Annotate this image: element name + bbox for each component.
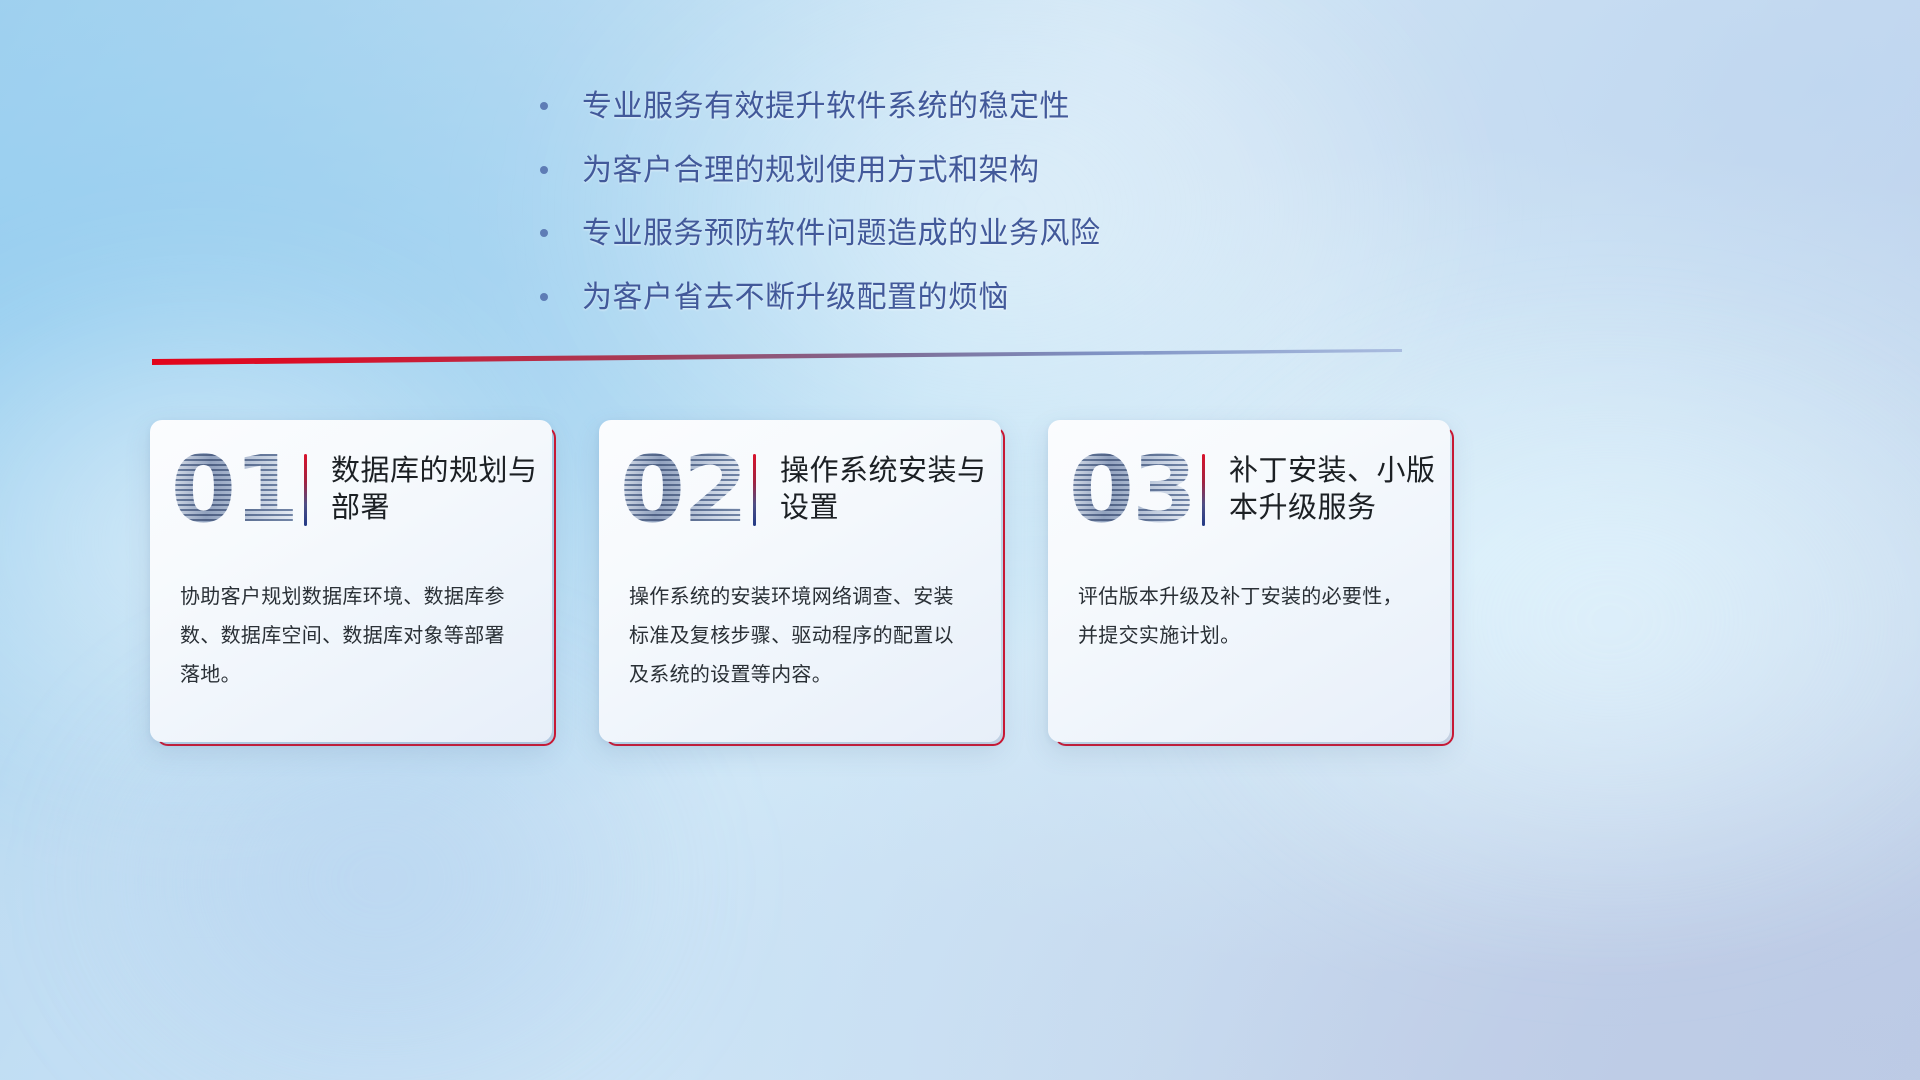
service-card[interactable]: 01 数据库的规划与部署 协助客户规划数据库环境、数据库参数、数据库空间、数据库… [150, 420, 552, 742]
section-divider [152, 342, 1402, 368]
card-divider-rule [304, 454, 307, 526]
card-surface: 03 补丁安装、小版本升级服务 评估版本升级及补丁安装的必要性，并提交实施计划。 [1048, 420, 1450, 742]
card-description: 操作系统的安装环境网络调查、安装标准及复核步骤、驱动程序的配置以及系统的设置等内… [599, 560, 1001, 695]
bullet-label: 为客户合理的规划使用方式和架构 [582, 152, 1380, 190]
list-item: 专业服务有效提升软件系统的稳定性 [540, 88, 1380, 126]
card-number-striped: 02 [620, 444, 751, 536]
card-divider-rule [1202, 454, 1205, 526]
bullet-dot-icon [540, 102, 548, 110]
service-card[interactable]: 02 操作系统安装与设置 操作系统的安装环境网络调查、安装标准及复核步骤、驱动程… [599, 420, 1001, 742]
bullet-label: 专业服务有效提升软件系统的稳定性 [582, 88, 1380, 126]
bullet-label: 为客户省去不断升级配置的烦恼 [582, 279, 1380, 317]
bullet-label: 专业服务预防软件问题造成的业务风险 [582, 215, 1380, 253]
card-surface: 01 数据库的规划与部署 协助客户规划数据库环境、数据库参数、数据库空间、数据库… [150, 420, 552, 742]
card-header: 02 操作系统安装与设置 [599, 420, 1001, 560]
bullet-dot-icon [540, 166, 548, 174]
service-card[interactable]: 03 补丁安装、小版本升级服务 评估版本升级及补丁安装的必要性，并提交实施计划。 [1048, 420, 1450, 742]
card-number-striped: 03 [1069, 444, 1200, 536]
card-surface: 02 操作系统安装与设置 操作系统的安装环境网络调查、安装标准及复核步骤、驱动程… [599, 420, 1001, 742]
card-number-striped: 01 [171, 444, 302, 536]
card-header: 03 补丁安装、小版本升级服务 [1048, 420, 1450, 560]
card-title: 数据库的规划与部署 [331, 453, 552, 527]
benefits-bullet-list: 专业服务有效提升软件系统的稳定性 为客户合理的规划使用方式和架构 专业服务预防软… [540, 88, 1380, 316]
list-item: 专业服务预防软件问题造成的业务风险 [540, 215, 1380, 253]
service-card-row: 01 数据库的规划与部署 协助客户规划数据库环境、数据库参数、数据库空间、数据库… [150, 420, 1450, 742]
bullet-dot-icon [540, 229, 548, 237]
card-description: 评估版本升级及补丁安装的必要性，并提交实施计划。 [1048, 560, 1450, 656]
card-header: 01 数据库的规划与部署 [150, 420, 552, 560]
list-item: 为客户合理的规划使用方式和架构 [540, 152, 1380, 190]
slide-root: 专业服务有效提升软件系统的稳定性 为客户合理的规划使用方式和架构 专业服务预防软… [0, 0, 1920, 1080]
list-item: 为客户省去不断升级配置的烦恼 [540, 279, 1380, 317]
card-description: 协助客户规划数据库环境、数据库参数、数据库空间、数据库对象等部署落地。 [150, 560, 552, 695]
bullet-dot-icon [540, 293, 548, 301]
card-title: 操作系统安装与设置 [780, 453, 1001, 527]
card-title: 补丁安装、小版本升级服务 [1229, 453, 1450, 527]
card-divider-rule [753, 454, 756, 526]
